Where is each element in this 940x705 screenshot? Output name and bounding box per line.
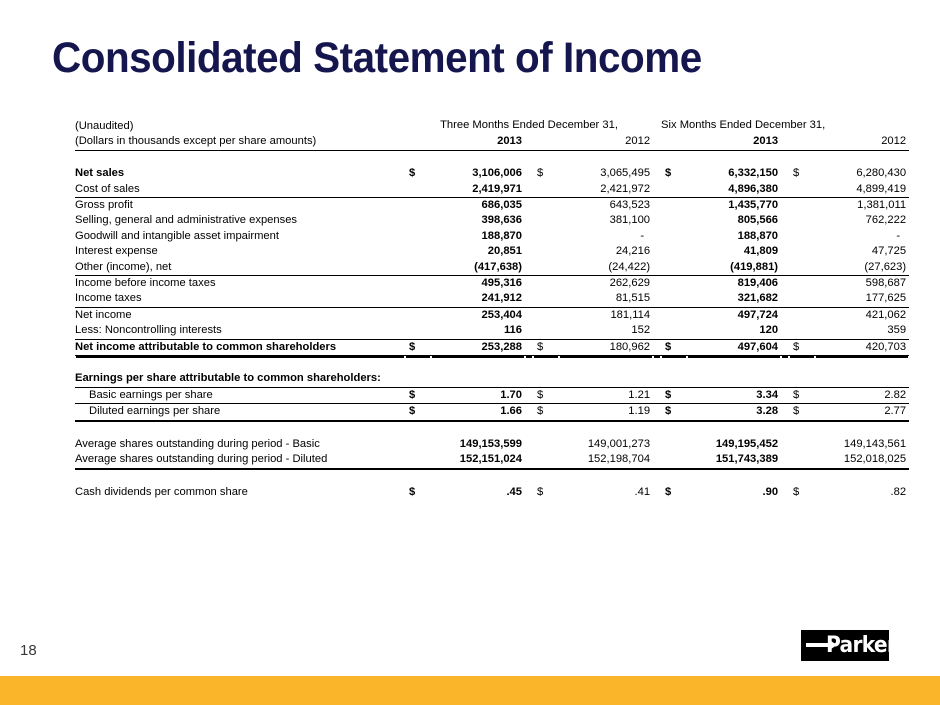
cell-value: 819,406: [687, 276, 781, 292]
cell-value: 81,515: [559, 291, 653, 307]
table-row: Interest expense 20,851 24,216 41,809 47…: [75, 244, 909, 259]
cell-value: 253,404: [431, 307, 525, 323]
cell-value: 421,062: [815, 307, 909, 323]
cell-value: 1.66: [431, 404, 525, 421]
cell-value: 253,288: [431, 339, 525, 355]
row-label: Selling, general and administrative expe…: [75, 213, 405, 228]
cell-value: 3,106,006: [431, 166, 525, 181]
year-header-ytd-2012: 2012: [815, 134, 909, 150]
row-label: Cost of sales: [75, 182, 405, 198]
cell-value: 188,870: [431, 229, 525, 244]
currency-symbol: $: [661, 339, 687, 355]
cell-value: 180,962: [559, 339, 653, 355]
currency-symbol: $: [405, 485, 431, 500]
cell-value: .45: [431, 485, 525, 500]
spacer-row: [75, 421, 909, 437]
table-row: Gross profit 686,035 643,523 1,435,770 1…: [75, 198, 909, 214]
cell-value: 686,035: [431, 198, 525, 214]
cell-value: 149,153,599: [431, 437, 525, 452]
table-header-year-row: (Dollars in thousands except per share a…: [75, 134, 909, 150]
parker-logo: Parker: [801, 630, 889, 661]
currency-symbol: $: [789, 339, 815, 355]
cell-value: 151,743,389: [687, 452, 781, 468]
table-row: Less: Noncontrolling interests 116 152 1…: [75, 323, 909, 339]
row-label: Less: Noncontrolling interests: [75, 323, 405, 339]
unaudited-note: (Unaudited): [75, 118, 405, 134]
currency-symbol: $: [789, 485, 815, 500]
cell-value: 120: [687, 323, 781, 339]
cell-value: -: [559, 229, 653, 244]
table-row: Average shares outstanding during period…: [75, 452, 909, 468]
table-row: Average shares outstanding during period…: [75, 437, 909, 452]
cell-value: 3.28: [687, 404, 781, 421]
currency-symbol: $: [661, 404, 687, 421]
table-row: Income taxes 241,912 81,515 321,682 177,…: [75, 291, 909, 307]
currency-symbol: $: [533, 485, 559, 500]
cell-value: 381,100: [559, 213, 653, 228]
cell-value: 6,280,430: [815, 166, 909, 181]
table-row: Net sales $ 3,106,006 $ 3,065,495 $ 6,33…: [75, 166, 909, 181]
cell-value: 1,435,770: [687, 198, 781, 214]
spacer-row: [75, 150, 909, 166]
row-label: Net income attributable to common shareh…: [75, 339, 405, 355]
row-label: Gross profit: [75, 198, 405, 214]
cell-value: 116: [431, 323, 525, 339]
cell-value: 420,703: [815, 339, 909, 355]
table-row: Cost of sales 2,419,971 2,421,972 4,896,…: [75, 182, 909, 198]
bottom-accent-bar: [0, 676, 940, 705]
cell-value: 2,421,972: [559, 182, 653, 198]
row-label: Average shares outstanding during period…: [75, 437, 405, 452]
currency-symbol: $: [661, 166, 687, 181]
row-label: Income taxes: [75, 291, 405, 307]
cell-value: 149,195,452: [687, 437, 781, 452]
cell-value: 24,216: [559, 244, 653, 259]
cell-value: 762,222: [815, 213, 909, 228]
row-label: Diluted earnings per share: [75, 404, 405, 421]
currency-symbol: $: [405, 387, 431, 403]
cell-value: 152: [559, 323, 653, 339]
cell-value: 3,065,495: [559, 166, 653, 181]
cell-value: 6,332,150: [687, 166, 781, 181]
cell-value: 152,151,024: [431, 452, 525, 468]
currency-symbol: $: [661, 387, 687, 403]
cell-value: 241,912: [431, 291, 525, 307]
currency-symbol: $: [533, 166, 559, 181]
cell-value: 1.21: [559, 387, 653, 403]
column-group-three-months: Three Months Ended December 31,: [405, 118, 653, 134]
cell-value: 805,566: [687, 213, 781, 228]
year-header-ytd-2013: 2013: [687, 134, 781, 150]
cell-value: 4,899,419: [815, 182, 909, 198]
row-label: Goodwill and intangible asset impairment: [75, 229, 405, 244]
row-label: Basic earnings per share: [75, 387, 405, 403]
row-label: Cash dividends per common share: [75, 485, 405, 500]
cell-value: -: [815, 229, 909, 244]
year-header-q-2012: 2012: [559, 134, 653, 150]
cell-value: 188,870: [687, 229, 781, 244]
cell-value: 1,381,011: [815, 198, 909, 214]
table-header-group-row: (Unaudited) Three Months Ended December …: [75, 118, 909, 134]
currency-symbol: $: [789, 387, 815, 403]
row-label: Other (income), net: [75, 260, 405, 276]
row-label: Net sales: [75, 166, 405, 181]
cell-value: 2,419,971: [431, 182, 525, 198]
row-label: Average shares outstanding during period…: [75, 452, 405, 468]
cell-value: 497,604: [687, 339, 781, 355]
currency-symbol: $: [533, 339, 559, 355]
cell-value: 149,001,273: [559, 437, 653, 452]
cell-value: 262,629: [559, 276, 653, 292]
table-row: Cash dividends per common share $ .45 $ …: [75, 485, 909, 500]
table-row: Other (income), net (417,638) (24,422) (…: [75, 260, 909, 276]
cell-value: (27,623): [815, 260, 909, 276]
table-row: Diluted earnings per share $ 1.66 $ 1.19…: [75, 404, 909, 421]
income-statement-table: (Unaudited) Three Months Ended December …: [75, 118, 847, 501]
cell-value: 1.70: [431, 387, 525, 403]
cell-value: 1.19: [559, 404, 653, 421]
currency-symbol: $: [533, 404, 559, 421]
cell-value: (419,881): [687, 260, 781, 276]
cell-value: 495,316: [431, 276, 525, 292]
cell-value: 4,896,380: [687, 182, 781, 198]
currency-symbol: $: [405, 166, 431, 181]
cell-value: 497,724: [687, 307, 781, 323]
cell-value: .82: [815, 485, 909, 500]
currency-symbol: $: [405, 404, 431, 421]
cell-value: (417,638): [431, 260, 525, 276]
cell-value: 2.77: [815, 404, 909, 421]
table-row: Net income 253,404 181,114 497,724 421,0…: [75, 307, 909, 323]
cell-value: .90: [687, 485, 781, 500]
cell-value: 181,114: [559, 307, 653, 323]
table-row-total: Net income attributable to common shareh…: [75, 339, 909, 355]
currency-symbol: $: [661, 485, 687, 500]
cell-value: 643,523: [559, 198, 653, 214]
cell-value: 47,725: [815, 244, 909, 259]
currency-symbol: $: [405, 339, 431, 355]
page-number: 18: [20, 642, 37, 659]
cell-value: 20,851: [431, 244, 525, 259]
page-title: Consolidated Statement of Income: [52, 34, 702, 83]
column-group-six-months: Six Months Ended December 31,: [661, 118, 815, 134]
row-label: Interest expense: [75, 244, 405, 259]
parker-logo-text: Parker: [826, 633, 889, 658]
table-row: Selling, general and administrative expe…: [75, 213, 909, 228]
cell-value: 149,143,561: [815, 437, 909, 452]
cell-value: 398,636: [431, 213, 525, 228]
cell-value: (24,422): [559, 260, 653, 276]
cell-value: 152,198,704: [559, 452, 653, 468]
year-header-q-2013: 2013: [431, 134, 525, 150]
cell-value: .41: [559, 485, 653, 500]
table-row: Basic earnings per share $ 1.70 $ 1.21 $…: [75, 387, 909, 403]
currency-symbol: $: [789, 166, 815, 181]
spacer-row: [75, 356, 909, 372]
currency-symbol: $: [789, 404, 815, 421]
eps-section-heading: Earnings per share attributable to commo…: [75, 371, 909, 387]
table-row: Income before income taxes 495,316 262,6…: [75, 276, 909, 292]
spacer-row: [75, 469, 909, 485]
cell-value: 3.34: [687, 387, 781, 403]
row-label: Net income: [75, 307, 405, 323]
cell-value: 2.82: [815, 387, 909, 403]
units-note: (Dollars in thousands except per share a…: [75, 134, 405, 150]
cell-value: 152,018,025: [815, 452, 909, 468]
cell-value: 177,625: [815, 291, 909, 307]
cell-value: 41,809: [687, 244, 781, 259]
row-label: Income before income taxes: [75, 276, 405, 292]
eps-section-heading-row: Earnings per share attributable to commo…: [75, 371, 909, 387]
cell-value: 321,682: [687, 291, 781, 307]
table-row: Goodwill and intangible asset impairment…: [75, 229, 909, 244]
currency-symbol: $: [533, 387, 559, 403]
cell-value: 598,687: [815, 276, 909, 292]
cell-value: 359: [815, 323, 909, 339]
